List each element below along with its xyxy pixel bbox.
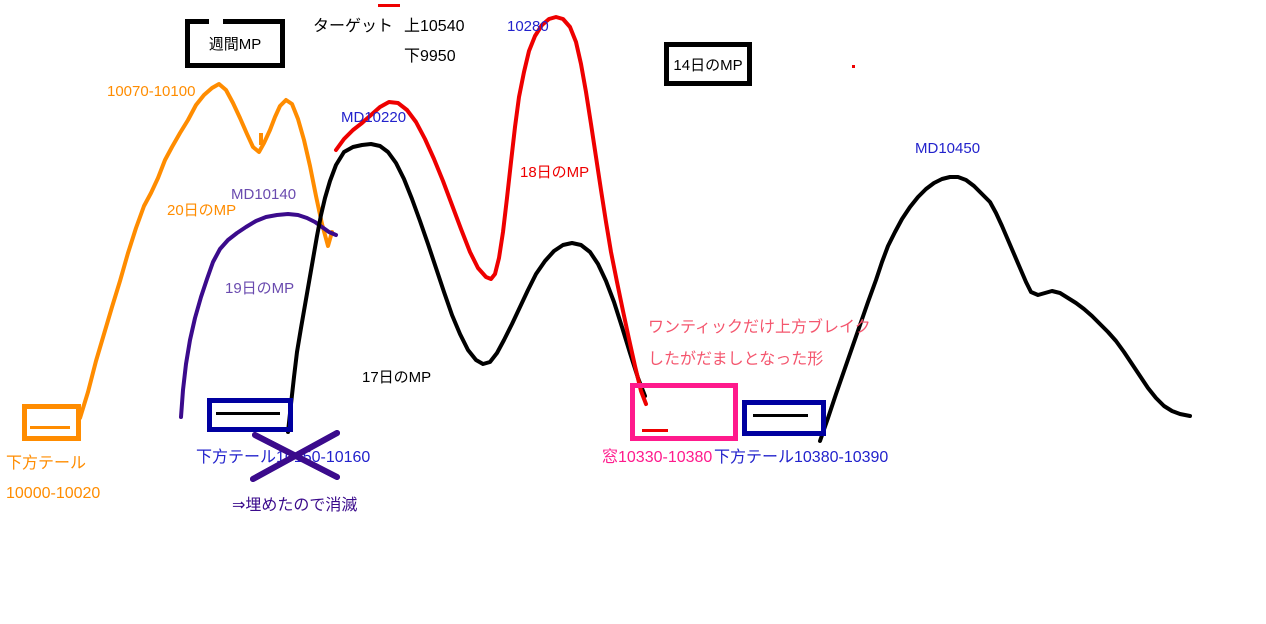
curve-14日のMP [820, 177, 1190, 441]
annotation-label-window-label: 窓10330-10380 [602, 450, 712, 466]
red-dot-right [852, 65, 855, 68]
curve-label-md10450: MD10450 [915, 141, 980, 156]
annotation-label-orange-tail-l2: 10000-10020 [6, 486, 100, 502]
title-box-label-day14-mp: 14日のMP [673, 54, 742, 75]
curve-17日のMP [288, 144, 645, 432]
blue-tail-box-right [742, 400, 826, 436]
blue-tail-box-right-inner-line [753, 414, 808, 417]
curve-label-mp20: 20日のMP [167, 203, 236, 218]
annotation-label-blue-tail-right: 下方テール10380-10390 [714, 450, 888, 466]
target-upper-value: 上10540 [404, 19, 465, 35]
curve-label-orange-range: 10070-10100 [107, 84, 195, 99]
curve-label-mp19: 19日のMP [225, 281, 294, 296]
annotation-label-orange-tail-l1: 下方テール [6, 456, 86, 472]
orange-tail-box-inner-line [30, 426, 70, 429]
blue-tail-box-left [207, 398, 293, 432]
curve-label-peak10280: 10280 [507, 19, 549, 34]
annotation-label-fakeout-l2: したがだましとなった形 [648, 352, 823, 368]
curve-label-mp17: 17日のMP [362, 370, 431, 385]
red-tick-top [378, 4, 400, 7]
annotation-label-purple-tail: 下方テール10150-10160 [196, 450, 370, 466]
title-box-weekly-mp: 週間MP [185, 19, 285, 68]
curve-label-md10140: MD10140 [231, 187, 296, 202]
pink-window-box [630, 383, 738, 441]
title-box-day14-mp: 14日のMP [664, 42, 752, 86]
blue-tail-box-left-inner-line [216, 412, 280, 415]
orange-tick [259, 133, 263, 145]
curve-19日のMP [181, 214, 336, 417]
title-box-label-weekly-mp: 週間MP [209, 33, 262, 54]
weekly-mp-box-notch [209, 18, 223, 25]
annotation-label-erased-note: ⇒埋めたので消滅 [232, 498, 357, 514]
curve-18日のMP [336, 17, 646, 404]
curve-label-mp18: 18日のMP [520, 165, 589, 180]
target-lower-value: 下9950 [404, 49, 456, 65]
curve-label-md10220: MD10220 [341, 110, 406, 125]
orange-tail-box [22, 404, 81, 441]
target-label: ターゲット [313, 19, 393, 35]
curve-series-layer [80, 17, 1190, 441]
pink-window-box-inner-line [642, 429, 668, 432]
annotation-label-fakeout-l1: ワンティックだけ上方ブレイク [648, 320, 871, 336]
